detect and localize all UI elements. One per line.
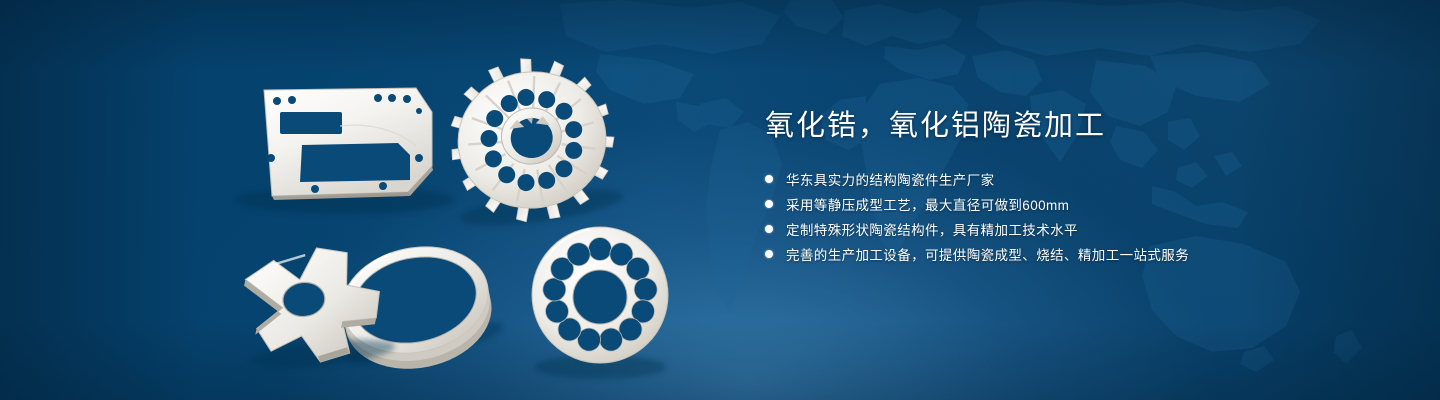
list-item: 采用等静压成型工艺，最大直径可做到600mm: [765, 193, 1385, 215]
ceramic-impeller-part: [439, 47, 625, 233]
list-item-label: 定制特殊形状陶瓷结构件，具有精加工技术水平: [786, 219, 1078, 239]
promo-banner: 氧化锆，氧化铝陶瓷加工 华东具实力的结构陶瓷件生产厂家 采用等静压成型工艺，最大…: [0, 0, 1440, 400]
dot-bullet-icon: [765, 175, 773, 183]
list-item-label: 采用等静压成型工艺，最大直径可做到600mm: [786, 194, 1069, 214]
dot-bullet-icon: [765, 250, 773, 258]
page-title: 氧化锆，氧化铝陶瓷加工: [765, 108, 1385, 144]
dot-bullet-icon: [765, 200, 773, 208]
ceramic-valve-plate-part: [532, 227, 668, 379]
banner-copy: 氧化锆，氧化铝陶瓷加工 华东具实力的结构陶瓷件生产厂家 采用等静压成型工艺，最大…: [765, 108, 1385, 268]
ceramic-products-image: [0, 0, 720, 400]
feature-list: 华东具实力的结构陶瓷件生产厂家 采用等静压成型工艺，最大直径可做到600mm 定…: [765, 168, 1385, 265]
list-item: 完善的生产加工设备，可提供陶瓷成型、烧结、精加工一站式服务: [765, 243, 1385, 265]
ceramic-plate-part: [235, 88, 455, 214]
list-item: 定制特殊形状陶瓷结构件，具有精加工技术水平: [765, 218, 1385, 240]
dot-bullet-icon: [765, 225, 773, 233]
list-item-label: 完善的生产加工设备，可提供陶瓷成型、烧结、精加工一站式服务: [786, 244, 1189, 264]
list-item: 华东具实力的结构陶瓷件生产厂家: [765, 168, 1385, 190]
list-item-label: 华东具实力的结构陶瓷件生产厂家: [786, 169, 995, 189]
